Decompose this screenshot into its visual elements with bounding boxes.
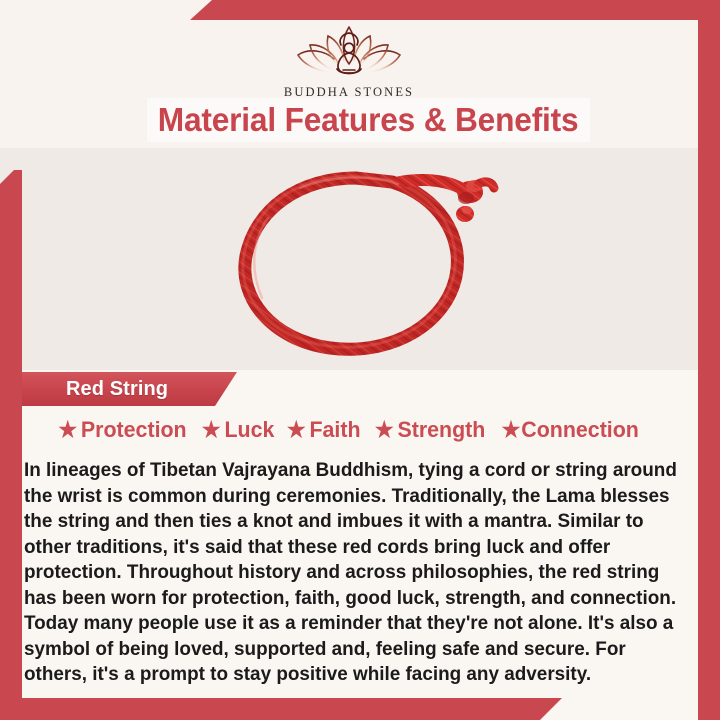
product-photo: [0, 148, 720, 370]
benefit-item: ★ Connection: [502, 417, 639, 443]
benefit-item: ★ Luck: [202, 417, 274, 443]
lotus-meditation-icon: [291, 22, 407, 84]
page-title: Material Features & Benefits: [158, 101, 579, 139]
brand-logo: BUDDHA STONES: [0, 22, 698, 100]
benefit-item: ★ Strength: [375, 417, 485, 443]
left-red-border: [0, 170, 22, 720]
material-badge: Red String: [22, 372, 237, 406]
benefit-label: Faith: [309, 417, 360, 443]
benefits-list: ★ Protection ★ Luck ★ Faith ★ Strength ★…: [0, 417, 698, 443]
star-icon: ★: [502, 419, 521, 441]
benefit-item: ★ Faith: [286, 417, 360, 443]
description-text: In lineages of Tibetan Vajrayana Buddhis…: [24, 458, 682, 688]
star-icon: ★: [375, 419, 394, 441]
content-panel: Red String ★ Protection ★ Luck ★ Faith ★…: [0, 370, 720, 720]
benefit-label: Protection: [81, 417, 187, 443]
right-red-border: [698, 0, 720, 720]
star-icon: ★: [59, 419, 78, 441]
infographic-page: BUDDHA STONES: [0, 0, 720, 720]
benefit-label: Strength: [397, 417, 485, 443]
top-red-banner: [190, 0, 720, 20]
benefit-label: Connection: [522, 417, 640, 443]
bottom-red-banner: [0, 698, 562, 720]
red-string-bracelet-image: [0, 148, 720, 370]
benefit-item: ★ Protection: [59, 417, 187, 443]
benefit-label: Luck: [225, 417, 275, 443]
star-icon: ★: [286, 419, 305, 441]
star-icon: ★: [202, 419, 221, 441]
material-badge-label: Red String: [66, 378, 168, 401]
section-title-panel: Material Features & Benefits: [147, 98, 590, 142]
